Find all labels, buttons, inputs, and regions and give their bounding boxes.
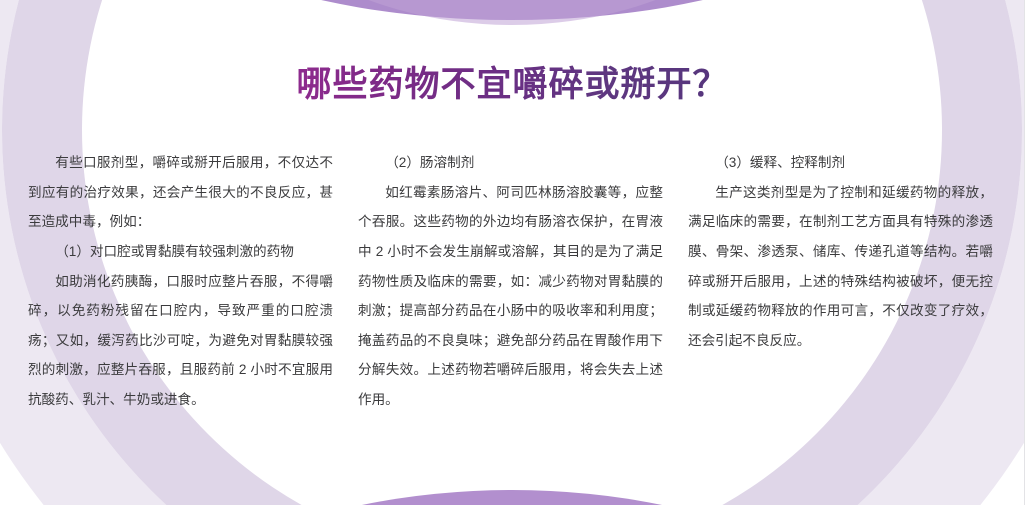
paragraph: 生产这类剂型是为了控制和延缓药物的释放，满足临床的需要，在制剂工艺方面具有特殊的… [688,178,993,356]
top-dome-highlight [212,0,812,25]
section-heading-3: （3）缓释、控释制剂 [688,148,993,178]
content-columns: 有些口服剂型，嚼碎或掰开后服用，不仅达不到应有的治疗效果，还会产生很大的不良反应… [28,148,1000,415]
page-title-container: 哪些药物不宜嚼碎或掰开？ [0,64,1025,106]
bottom-purple-dome [117,490,907,505]
section-heading-1: （1）对口腔或胃黏膜有较强刺激的药物 [28,237,333,267]
paragraph: 如红霉素肠溶片、阿司匹林肠溶胶囊等，应整个吞服。这些药物的外边均有肠溶衣保护，在… [358,178,663,415]
poster-page: 哪些药物不宜嚼碎或掰开？ 有些口服剂型，嚼碎或掰开后服用，不仅达不到应有的治疗效… [0,0,1025,505]
column-2: （2）肠溶制剂 如红霉素肠溶片、阿司匹林肠溶胶囊等，应整个吞服。这些药物的外边均… [358,148,663,415]
paragraph: 有些口服剂型，嚼碎或掰开后服用，不仅达不到应有的治疗效果，还会产生很大的不良反应… [28,148,333,237]
section-heading-2: （2）肠溶制剂 [358,148,663,178]
column-3: （3）缓释、控释制剂 生产这类剂型是为了控制和延缓药物的释放，满足临床的需要，在… [688,148,993,415]
page-title: 哪些药物不宜嚼碎或掰开？ [296,64,728,106]
column-1: 有些口服剂型，嚼碎或掰开后服用，不仅达不到应有的治疗效果，还会产生很大的不良反应… [28,148,333,415]
paragraph: 如助消化药胰酶，口服时应整片吞服，不得嚼碎，以免药粉残留在口腔内，导致严重的口腔… [28,267,333,415]
top-purple-dome [112,0,912,20]
